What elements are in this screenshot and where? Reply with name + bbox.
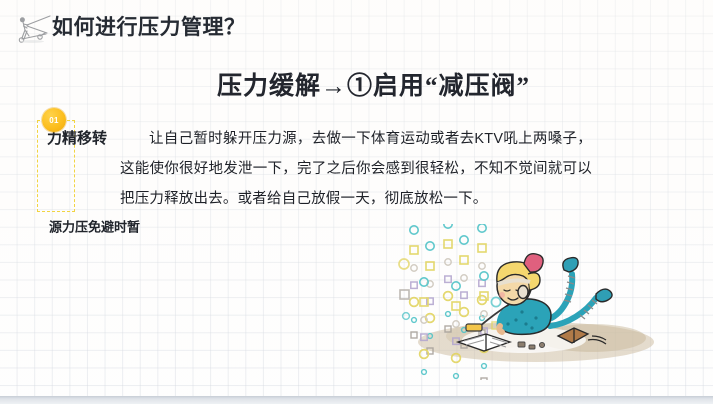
side-label-sub: 暂时避免压力源 xyxy=(48,220,139,234)
sketch-person-pulling-icon xyxy=(10,9,54,45)
section-title: 压力缓解→①启用“减压阀” xyxy=(0,66,713,102)
status-badge: 01 xyxy=(42,108,66,132)
page-title: 如何进行压力管理？ xyxy=(52,11,246,41)
person-lying-listening-music-illustration xyxy=(396,224,696,380)
side-label-main: 转移精力 xyxy=(46,130,106,146)
bottom-bar xyxy=(0,396,713,404)
body-paragraph: 让自己暂时躲开压力源，去做一下体育运动或者去KTV吼上两嗓子，这能使你很好地发泄… xyxy=(120,124,592,214)
slide-header: 如何进行压力管理？ xyxy=(0,0,713,50)
slide-canvas: 如何进行压力管理？ 压力缓解→①启用“减压阀” 01 转移精力 暂时避免压力源 … xyxy=(0,0,713,404)
